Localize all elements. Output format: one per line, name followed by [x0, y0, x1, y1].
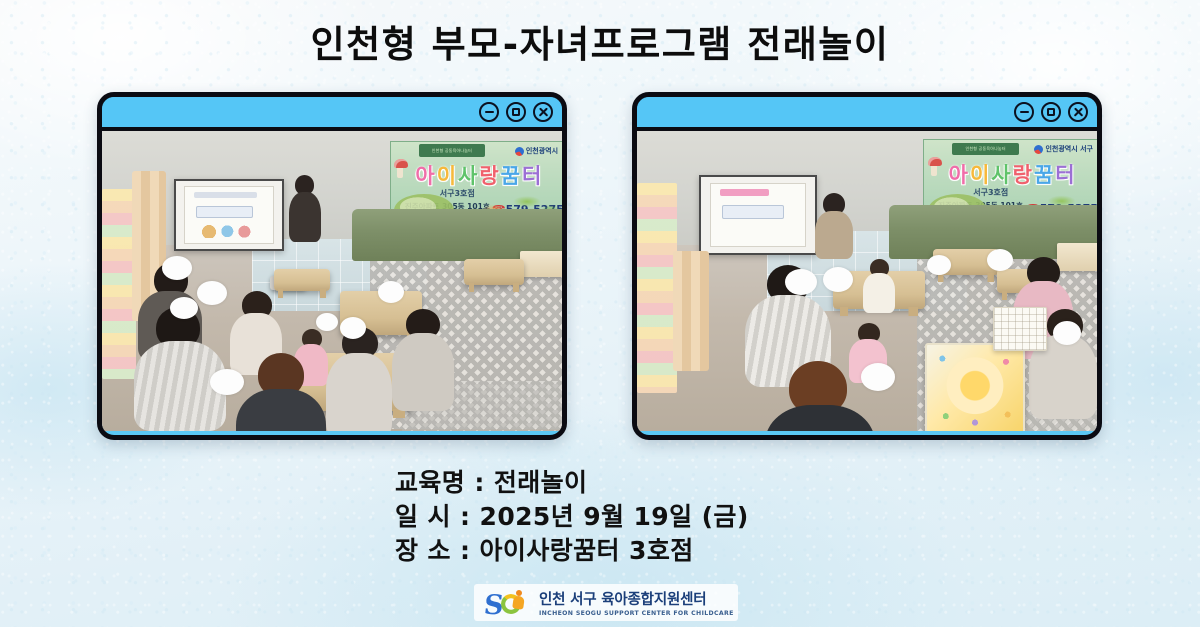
- wall-poster-left: [637, 183, 677, 393]
- instructor: [815, 193, 853, 255]
- face-mask: [197, 281, 227, 305]
- banner-char-2: 이: [437, 166, 456, 187]
- banner-char-2: 이: [970, 165, 989, 186]
- right-photo: 인천형 공동육아나눔터 아 이 사 랑 꿈 터 서구3호점 진주아파트 305동…: [637, 131, 1097, 431]
- person-body: [236, 389, 326, 431]
- face-mask: [927, 255, 951, 275]
- banner-top-strip: 인천형 공동육아나눔터: [419, 144, 485, 156]
- participant-4: [765, 361, 875, 431]
- banner-branch: 서구3호점: [973, 187, 1008, 198]
- left-photo: 인천형 공동육아나눔터 아 이 사 랑 꿈 터 서구3호점 진주아파트 305동…: [102, 131, 562, 431]
- banner-char-4: 랑: [1013, 165, 1032, 186]
- face-mask: [340, 317, 366, 339]
- left-photo-window: 인천형 공동육아나눔터 아 이 사 랑 꿈 터 서구3호점 진주아파트 305동…: [97, 92, 567, 440]
- person-body: [289, 192, 321, 242]
- slide-body: [196, 206, 253, 218]
- person-body: [815, 211, 853, 259]
- face-mask: [861, 363, 895, 391]
- banner-branch: 서구3호점: [440, 188, 475, 199]
- banner-char-6: 터: [1055, 165, 1074, 186]
- incheon-logo-icon: [1034, 145, 1043, 154]
- detail-separator: :: [460, 502, 470, 531]
- slide-body: [722, 205, 784, 219]
- face-mask: [210, 369, 244, 395]
- person-body: [765, 405, 875, 431]
- side-shelf: [520, 251, 562, 277]
- maximize-icon[interactable]: [506, 102, 526, 122]
- event-details: 교육명 : 전래놀이 일 시 : 2025년 9월 19일 (금) 장 소 : …: [395, 466, 749, 568]
- detail-separator: :: [460, 536, 470, 565]
- low-table-1: [274, 269, 330, 291]
- organization-name: 인천 서구 육아종합지원센터 INCHEON SEOGU SUPPORT CEN…: [539, 588, 734, 617]
- minimize-icon[interactable]: [479, 102, 499, 122]
- detail-separator: :: [474, 468, 484, 497]
- face-mask: [1053, 321, 1081, 345]
- participant-6: [392, 309, 454, 405]
- detail-row-datetime: 일 시 : 2025년 9월 19일 (금): [395, 500, 749, 534]
- participant-5: [236, 353, 326, 431]
- banner-top-strip: 인천형 공동육아나눔터: [952, 143, 1019, 156]
- organization-name-en: INCHEON SEOGU SUPPORT CENTER FOR CHILDCA…: [539, 610, 734, 617]
- detail-label: 교육명: [395, 466, 465, 500]
- banner-char-5: 꿈: [1034, 165, 1053, 186]
- banner-char-1: 아: [415, 166, 434, 187]
- projector-screen: [174, 179, 284, 251]
- face-mask: [987, 249, 1013, 271]
- slide-header: [194, 192, 257, 199]
- close-icon[interactable]: [533, 102, 553, 122]
- organization-footer: S 인천 서구 육아종합지원센터 INCHEON SEOGU SUPPORT C…: [474, 584, 738, 621]
- slide-icons: [198, 223, 259, 238]
- logo-child-figure: [513, 590, 524, 610]
- detail-row-program: 교육명 : 전래놀이: [395, 466, 749, 500]
- cushion-wall: [673, 251, 709, 371]
- detail-label: 장 소: [395, 534, 451, 568]
- right-window-titlebar: [637, 97, 1097, 131]
- mushroom-graphic: [928, 153, 950, 179]
- sc-logo-icon: S: [484, 589, 530, 617]
- detail-row-location: 장 소 : 아이사랑꿈터 3호점: [395, 534, 749, 568]
- person-body: [863, 273, 895, 313]
- face-mask: [378, 281, 404, 303]
- wall-poster-left: [102, 189, 136, 379]
- participant-2: [134, 307, 226, 429]
- slide-header: [720, 189, 769, 196]
- banner-char-1: 아: [949, 165, 968, 186]
- maximize-icon[interactable]: [1041, 102, 1061, 122]
- person-body: [392, 333, 454, 411]
- incheon-logo-icon: [515, 147, 524, 156]
- organization-name-ko: 인천 서구 육아종합지원센터: [539, 588, 734, 609]
- low-table-4: [464, 259, 524, 285]
- page-title: 인천형 부모-자녀프로그램 전래놀이: [0, 14, 1200, 68]
- banner-city: 인천광역시 서구: [1034, 144, 1093, 154]
- banner-char-3: 사: [991, 165, 1010, 186]
- poster-canvas: 인천형 부모-자녀프로그램 전래놀이 인천형 공동육아나눔터 아 이 사: [0, 0, 1200, 627]
- face-mask: [823, 267, 853, 292]
- banner-city: 인천광역시: [515, 146, 558, 156]
- minimize-icon[interactable]: [1014, 102, 1034, 122]
- slide: [184, 186, 273, 243]
- detail-value: 전래놀이: [494, 468, 588, 497]
- close-icon[interactable]: [1068, 102, 1088, 122]
- detail-value: 아이사랑꿈터 3호점: [480, 536, 694, 565]
- detail-label: 일 시: [395, 500, 451, 534]
- right-photo-window: 인천형 공동육아나눔터 아 이 사 랑 꿈 터 서구3호점 진주아파트 305동…: [632, 92, 1102, 440]
- face-mask: [785, 269, 817, 295]
- face-mask: [162, 256, 192, 280]
- left-window-titlebar: [102, 97, 562, 131]
- instructor: [288, 175, 322, 241]
- detail-value: 2025년 9월 19일 (금): [480, 502, 749, 531]
- board-game: [925, 343, 1025, 431]
- mushroom-graphic: [394, 155, 416, 181]
- projector-screen: [699, 175, 817, 255]
- face-mask: [170, 297, 198, 319]
- participant-child-1: [863, 259, 895, 309]
- participant-4: [326, 327, 392, 431]
- person-body: [326, 353, 392, 431]
- game-grid-card: [993, 307, 1047, 351]
- slide: [710, 183, 806, 247]
